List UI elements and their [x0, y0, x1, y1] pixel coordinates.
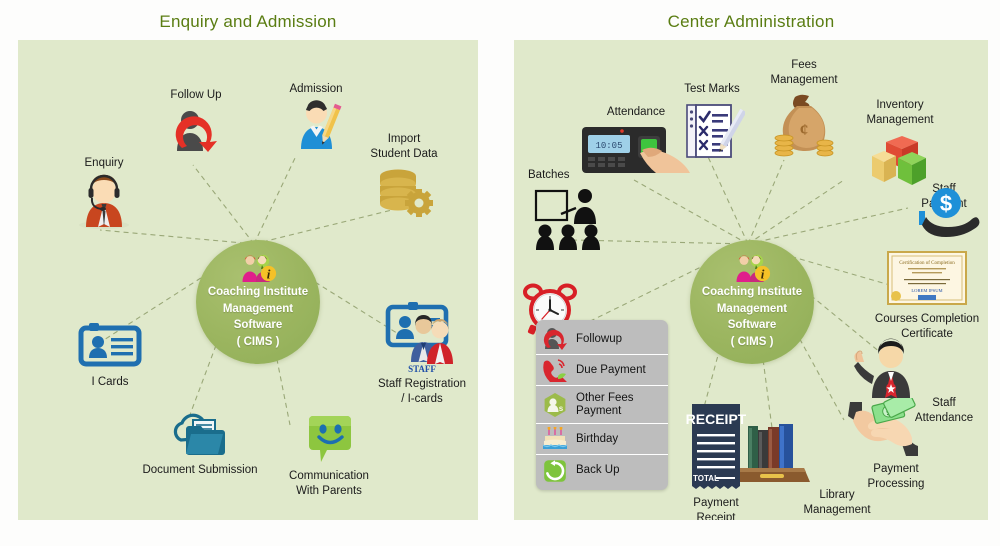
node-label-payment-receipt: Payment Receipt — [664, 496, 768, 520]
svg-text:s: s — [559, 404, 564, 413]
node-staff-payment[interactable]: Staff Payment $ — [898, 182, 988, 237]
reminders-menu-label-birthday: Birthday — [570, 433, 618, 446]
staff-badge-label: STAFF — [408, 364, 436, 374]
reminders-menu-item-back-up[interactable]: Back Up — [536, 455, 668, 486]
people-info-icon: i — [238, 254, 278, 282]
node-label-fees-management: Fees Management — [754, 58, 854, 87]
node-i-cards[interactable]: I Cards — [56, 318, 164, 390]
node-label-follow-up: Follow Up — [146, 88, 246, 103]
user-fees-hex-icon: s — [540, 392, 570, 418]
reminders-menu-item-other-fees-payment[interactable]: s Other Fees Payment — [536, 386, 668, 424]
panel-center-administration: i Coaching Institute Management Software… — [514, 40, 988, 520]
database-gear-icon — [356, 167, 452, 219]
id-card-icon — [56, 318, 164, 370]
node-courses-completion-certificate[interactable]: Certification of Completion LOREM IPSUM … — [866, 250, 988, 341]
smiley-chat-bubble-icon — [262, 412, 396, 466]
phone-call-icon — [540, 358, 570, 382]
svg-text:¢: ¢ — [800, 120, 809, 139]
hub-line-2: Management — [717, 301, 787, 318]
hub-line-1: Coaching Institute — [702, 284, 802, 301]
reminders-menu-item-due-payment[interactable]: Due Payment — [536, 355, 668, 386]
reminders-menu-label-other-fees-payment: Other Fees Payment — [570, 392, 634, 418]
certificate-heading: Certification of Completion — [899, 261, 955, 266]
books-shelf-icon — [754, 420, 890, 486]
birthday-cake-icon — [540, 427, 570, 451]
hub-line-3: Software — [234, 317, 283, 334]
classroom-board-icon — [522, 186, 618, 252]
node-staff-registration-icards[interactable]: STAFF Staff Registration / I-cards — [358, 298, 478, 406]
node-label-test-marks: Test Marks — [666, 82, 758, 97]
node-label-admission: Admission — [268, 82, 364, 97]
panel-title-center-administration: Center Administration — [514, 12, 988, 32]
infographic-stage: Enquiry and Admission — [0, 0, 1000, 546]
hub-cims-right: i Coaching Institute Management Software… — [690, 240, 814, 364]
reminders-menu-label-followup: Followup — [570, 333, 622, 346]
device-display-value: 10:05 — [595, 141, 622, 151]
reminders-menu-item-followup[interactable]: Followup — [536, 324, 668, 355]
panel-enquiry-and-admission: i Coaching Institute Management Software… — [18, 40, 478, 520]
stacked-boxes-icon — [844, 130, 956, 190]
node-label-library-management: Library Management — [754, 488, 890, 517]
reminders-menu-label-due-payment: Due Payment — [570, 364, 646, 377]
node-label-communication-with-parents: Communication With Parents — [262, 469, 396, 498]
svg-text:i: i — [267, 266, 271, 281]
svg-text:LOREM IPSUM: LOREM IPSUM — [911, 288, 942, 293]
hub-line-4: ( CIMS ) — [731, 334, 774, 351]
hub-line-1: Coaching Institute — [208, 284, 308, 301]
node-label-document-submission: Document Submission — [122, 463, 278, 478]
reminders-menu[interactable]: Followup Due Payment — [536, 320, 668, 490]
staff-id-card-icon: STAFF — [358, 298, 478, 376]
node-label-import-student-data: Import Student Data — [356, 132, 452, 161]
person-raising-hand-icon — [850, 338, 986, 400]
hub-line-4: ( CIMS ) — [237, 334, 280, 351]
node-payment-receipt[interactable]: RECEIPT TOTAL Payment Receipt — [664, 402, 768, 520]
hand-dollar-coin-icon: $ — [898, 185, 988, 237]
node-inventory-management[interactable]: Inventory Management — [844, 98, 956, 190]
node-label-inventory-management: Inventory Management — [844, 98, 956, 127]
node-label-enquiry: Enquiry — [54, 156, 154, 171]
person-refresh-arrow-icon — [146, 107, 246, 155]
reminders-menu-item-birthday[interactable]: Birthday — [536, 424, 668, 455]
node-test-marks[interactable]: Test Marks — [666, 82, 758, 163]
node-follow-up[interactable]: Follow Up — [146, 88, 246, 155]
node-communication-with-parents[interactable]: Communication With Parents — [262, 412, 396, 498]
svg-text:$: $ — [940, 191, 952, 216]
headset-agent-icon — [54, 173, 154, 229]
receipt-icon: RECEIPT TOTAL — [664, 402, 768, 492]
node-admission[interactable]: Admission — [268, 82, 364, 151]
node-import-student-data[interactable]: Import Student Data — [356, 132, 452, 219]
cloud-folder-documents-icon — [122, 410, 278, 458]
backup-refresh-icon — [540, 458, 570, 484]
node-library-management[interactable]: Library Management — [754, 420, 890, 517]
certificate-icon: Certification of Completion LOREM IPSUM — [866, 250, 988, 306]
svg-text:i: i — [761, 266, 765, 281]
node-label-courses-completion-certificate: Courses Completion Certificate — [866, 312, 988, 341]
student-pencil-icon — [268, 99, 364, 151]
checklist-pencil-icon — [666, 101, 758, 163]
person-arrow-icon — [540, 327, 570, 351]
receipt-heading: RECEIPT — [686, 411, 746, 427]
receipt-total-label: TOTAL — [693, 474, 719, 483]
node-enquiry[interactable]: Enquiry — [54, 156, 154, 229]
reminders-menu-label-back-up: Back Up — [570, 464, 619, 477]
people-info-icon: i — [732, 254, 772, 282]
money-bag-coins-icon: ¢ — [754, 91, 854, 157]
node-fees-management[interactable]: Fees Management ¢ — [754, 58, 854, 157]
node-label-staff-registration-icards: Staff Registration / I-cards — [358, 377, 478, 406]
node-document-submission[interactable]: Document Submission — [122, 410, 278, 478]
node-label-i-cards: I Cards — [56, 375, 164, 390]
hub-cims-left: i Coaching Institute Management Software… — [196, 240, 320, 364]
hub-line-2: Management — [223, 301, 293, 318]
panel-title-enquiry-and-admission: Enquiry and Admission — [18, 12, 478, 32]
hub-line-3: Software — [728, 317, 777, 334]
